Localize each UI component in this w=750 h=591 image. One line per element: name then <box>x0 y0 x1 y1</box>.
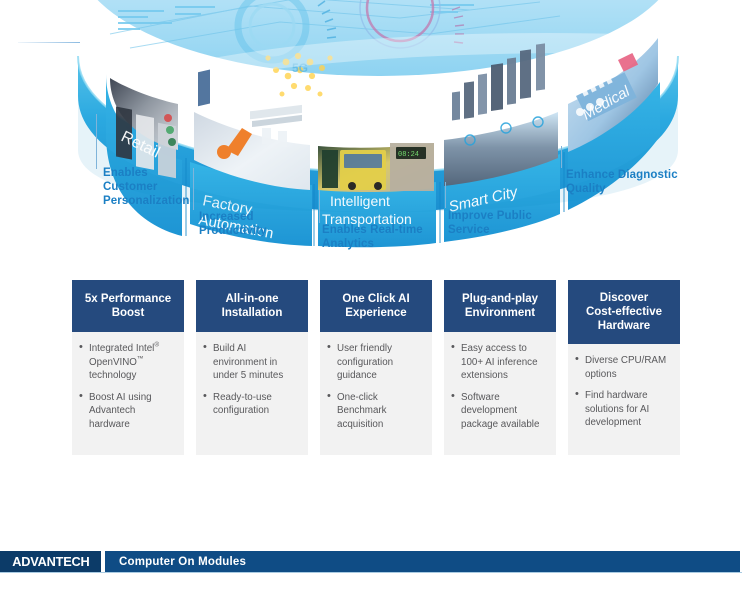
hero-carousel-graphic: 5G Reta <box>0 0 750 262</box>
card-body: Easy access to 100+ AI inference extensi… <box>444 332 556 455</box>
hero-left-rule <box>18 42 80 43</box>
list-item: Ready-to-use configuration <box>202 391 300 418</box>
feature-card-installation[interactable]: All-in-one Installation Build AI environ… <box>196 280 308 455</box>
advantech-logo: ADVANTECH <box>0 551 101 572</box>
list-item: One-click Benchmark acquisition <box>326 391 424 432</box>
card-body: Build AI environment in under 5 minutes … <box>196 332 308 455</box>
registered-mark: ® <box>154 342 159 349</box>
caption-transportation: Enables Real-time Analytics <box>322 223 440 251</box>
leader-line-medical <box>561 146 562 168</box>
card-body: User friendly configuration guidance One… <box>320 332 432 455</box>
card-body: Integrated Intel® OpenVINO™ technology B… <box>72 332 184 455</box>
list-item: Boost AI using Advantech hardware <box>78 391 176 432</box>
card-bullet-list: Diverse CPU/RAM options Find hardware so… <box>574 354 672 430</box>
feature-card-row: 5x Performance Boost Integrated Intel® O… <box>72 280 680 455</box>
card-title: Plug-and-play Environment <box>444 280 556 332</box>
caption-factory: Increased Productivity <box>199 210 295 238</box>
carousel-segment-retail: Retail <box>106 74 182 236</box>
trademark-mark: ™ <box>137 355 144 362</box>
card-bullet-list: Easy access to 100+ AI inference extensi… <box>450 342 548 432</box>
bullet-text-b: OpenVINO <box>89 357 137 368</box>
advantech-logo-text: ADVANTECH <box>12 555 89 569</box>
card-bullet-list: User friendly configuration guidance One… <box>326 342 424 432</box>
caption-retail: Enables Customer Personalization <box>103 166 199 208</box>
list-item: Build AI environment in under 5 minutes <box>202 342 300 383</box>
svg-text:Intelligent: Intelligent <box>330 193 390 209</box>
leader-line-retail <box>96 114 97 169</box>
feature-card-plug-and-play[interactable]: Plug-and-play Environment Easy access to… <box>444 280 556 455</box>
leader-line-transportation <box>319 190 320 223</box>
card-title: 5x Performance Boost <box>72 280 184 332</box>
card-body: Diverse CPU/RAM options Find hardware so… <box>568 344 680 455</box>
feature-card-performance[interactable]: 5x Performance Boost Integrated Intel® O… <box>72 280 184 455</box>
list-item: Diverse CPU/RAM options <box>574 354 672 381</box>
leader-line-smartcity <box>445 182 446 208</box>
feature-card-cost-effective-hardware[interactable]: Discover Cost-effective Hardware Diverse… <box>568 280 680 455</box>
feature-card-one-click-ai[interactable]: One Click AI Experience User friendly co… <box>320 280 432 455</box>
card-title: Discover Cost-effective Hardware <box>568 280 680 344</box>
bullet-text-a: Integrated Intel <box>89 343 154 354</box>
caption-smartcity: Improve Public Service <box>448 209 558 237</box>
caption-medical: Enhance Diagnostic Quality <box>566 168 690 196</box>
footer-underline <box>0 572 742 573</box>
card-title: One Click AI Experience <box>320 280 432 332</box>
svg-text:08:24: 08:24 <box>398 151 419 159</box>
list-item: User friendly configuration guidance <box>326 342 424 383</box>
list-item: Integrated Intel® OpenVINO™ technology <box>78 342 176 383</box>
list-item: Easy access to 100+ AI inference extensi… <box>450 342 548 383</box>
footer-title: Computer On Modules <box>105 551 246 572</box>
bullet-text-c: technology <box>89 370 136 381</box>
list-item: Software development package available <box>450 391 548 432</box>
card-bullet-list: Build AI environment in under 5 minutes … <box>202 342 300 418</box>
card-title: All-in-one Installation <box>196 280 308 332</box>
footer-bar: ADVANTECH Computer On Modules <box>0 551 740 573</box>
card-bullet-list: Integrated Intel® OpenVINO™ technology B… <box>78 342 176 432</box>
list-item: Find hardware solutions for AI developme… <box>574 389 672 430</box>
